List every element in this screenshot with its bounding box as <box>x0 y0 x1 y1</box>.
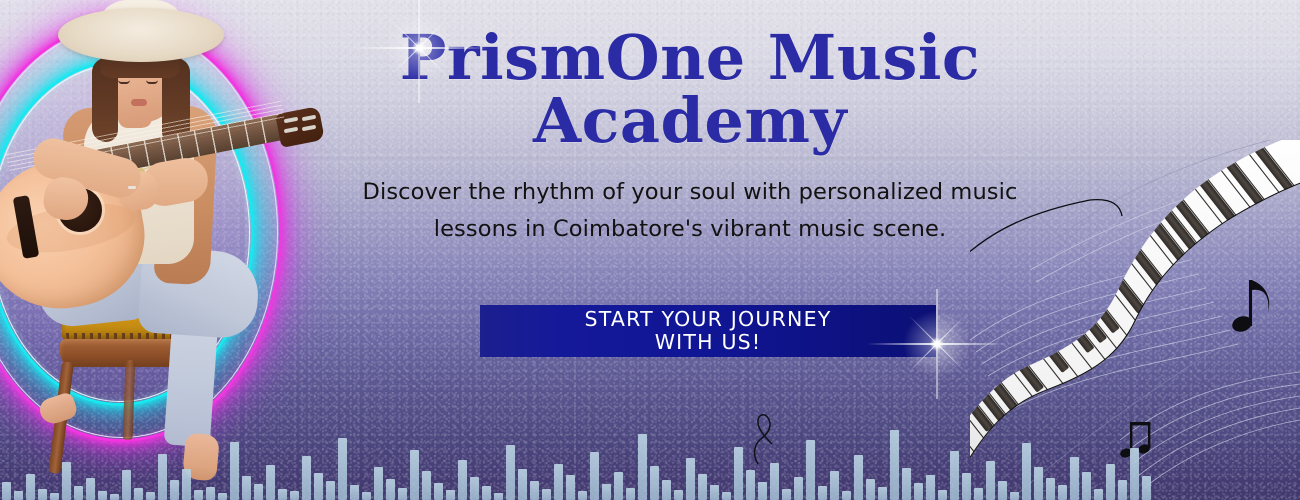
equalizer-bar <box>170 480 179 500</box>
equalizer-bar <box>338 438 347 500</box>
equalizer-bar <box>398 488 407 500</box>
equalizer-bar <box>638 434 647 500</box>
equalizer-bar <box>446 490 455 500</box>
equalizer-bar <box>782 489 791 500</box>
equalizer-bar <box>626 488 635 500</box>
equalizer-bar <box>1118 480 1127 500</box>
equalizer-bar <box>266 465 275 500</box>
equalizer-bar <box>242 476 251 500</box>
equalizer-bar <box>530 481 539 500</box>
wide-brim-hat <box>58 8 224 62</box>
equalizer-bar <box>1106 464 1115 500</box>
audio-equalizer-bars <box>0 390 1300 500</box>
equalizer-bar <box>350 485 359 500</box>
equalizer-bar <box>326 481 335 500</box>
equalizer-bar <box>734 447 743 500</box>
equalizer-bar <box>1082 472 1091 500</box>
equalizer-bar <box>146 492 155 500</box>
equalizer-bar <box>1058 485 1067 500</box>
equalizer-bar <box>482 486 491 500</box>
equalizer-bar <box>902 468 911 500</box>
equalizer-bar <box>386 479 395 500</box>
equalizer-bar <box>602 484 611 500</box>
equalizer-bar <box>818 486 827 500</box>
equalizer-bar <box>962 473 971 500</box>
equalizer-bar <box>362 492 371 500</box>
equalizer-bar <box>746 470 755 500</box>
equalizer-bar <box>998 481 1007 500</box>
equalizer-bar <box>230 442 239 500</box>
hero-subtitle: Discover the rhythm of your soul with pe… <box>355 174 1025 247</box>
equalizer-bar <box>302 456 311 500</box>
equalizer-bar <box>590 452 599 500</box>
equalizer-bar <box>98 491 107 500</box>
equalizer-bar <box>566 475 575 500</box>
equalizer-bar <box>554 464 563 500</box>
equalizer-bar <box>254 484 263 500</box>
equalizer-bar <box>950 451 959 500</box>
finger-ring <box>128 186 136 189</box>
equalizer-bar <box>830 471 839 500</box>
equalizer-bar <box>974 488 983 500</box>
equalizer-bar <box>1010 492 1019 500</box>
equalizer-bar <box>866 479 875 500</box>
equalizer-bar <box>1130 448 1139 500</box>
equalizer-bar <box>278 489 287 500</box>
equalizer-bar <box>74 486 83 500</box>
equalizer-bar <box>722 492 731 500</box>
equalizer-bar <box>194 490 203 500</box>
equalizer-bar <box>122 470 131 500</box>
equalizer-bar <box>842 491 851 500</box>
equalizer-bar <box>758 482 767 500</box>
equalizer-bar <box>62 462 71 500</box>
equalizer-bar <box>314 473 323 500</box>
equalizer-bar <box>218 493 227 500</box>
equalizer-bar <box>686 458 695 500</box>
equalizer-bar <box>890 430 899 500</box>
equalizer-bar <box>134 488 143 500</box>
equalizer-bar <box>50 493 59 500</box>
equalizer-bar <box>854 455 863 500</box>
equalizer-bar <box>926 475 935 500</box>
equalizer-bar <box>806 440 815 500</box>
equalizer-bar <box>1022 443 1031 500</box>
equalizer-bar <box>1070 457 1079 500</box>
equalizer-bar <box>542 489 551 500</box>
equalizer-bar <box>374 467 383 500</box>
equalizer-bar <box>158 454 167 500</box>
equalizer-bar <box>662 480 671 500</box>
equalizer-bar <box>770 463 779 500</box>
equalizer-bar <box>110 494 119 500</box>
music-academy-hero-banner: PrismOne Music Academy Discover the rhyt… <box>0 0 1300 500</box>
equalizer-bar <box>26 474 35 500</box>
equalizer-bar <box>794 477 803 500</box>
equalizer-bar <box>518 469 527 500</box>
equalizer-bar <box>38 489 47 500</box>
equalizer-bar <box>698 474 707 500</box>
equalizer-bar <box>986 461 995 500</box>
eighth-note-icon <box>1230 280 1269 334</box>
equalizer-bar <box>182 469 191 500</box>
equalizer-bar <box>290 491 299 500</box>
page-title: PrismOne Music Academy <box>390 26 990 152</box>
equalizer-bar <box>2 482 11 500</box>
start-your-journey-button[interactable]: START YOUR JOURNEY WITH US! <box>480 305 936 357</box>
equalizer-bar <box>1046 478 1055 500</box>
equalizer-bar <box>614 472 623 500</box>
equalizer-bar <box>878 487 887 500</box>
equalizer-bar <box>14 491 23 500</box>
cta-label: START YOUR JOURNEY WITH US! <box>585 308 832 355</box>
equalizer-bar <box>410 450 419 500</box>
equalizer-bar <box>470 477 479 500</box>
equalizer-bar <box>578 491 587 500</box>
equalizer-bar <box>938 490 947 500</box>
equalizer-bar <box>914 483 923 500</box>
equalizer-bar <box>434 483 443 500</box>
equalizer-bar <box>674 490 683 500</box>
equalizer-bar <box>206 487 215 500</box>
equalizer-bar <box>1034 467 1043 500</box>
equalizer-bar <box>506 445 515 500</box>
equalizer-bar <box>1094 489 1103 500</box>
lips <box>131 99 147 106</box>
equalizer-bar <box>86 478 95 500</box>
equalizer-bar <box>494 493 503 500</box>
equalizer-bar <box>710 485 719 500</box>
equalizer-bar <box>458 460 467 500</box>
equalizer-bar <box>422 471 431 500</box>
equalizer-bar <box>1142 476 1151 500</box>
equalizer-bar <box>650 466 659 500</box>
